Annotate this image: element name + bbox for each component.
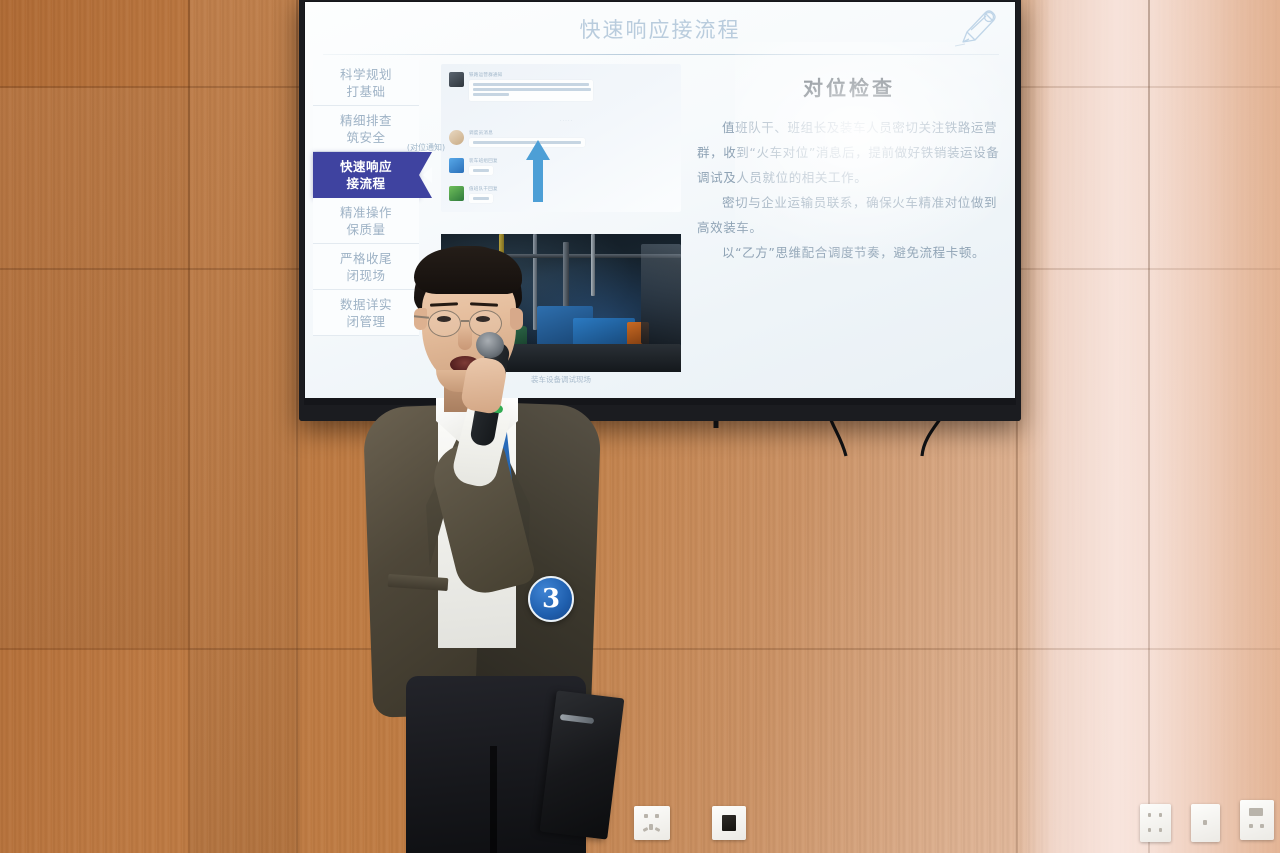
chat-avatar-3 [449, 158, 464, 173]
slide-nav-item-1-line2: 打基础 [346, 83, 385, 100]
chat-sender-2: 调度员消息 [469, 130, 585, 136]
slide-nav-item-3-line2: 接流程 [346, 175, 385, 192]
contestant-number-badge: 3 [528, 576, 574, 622]
slide-nav-item-3-line1: 快速响应 [340, 158, 392, 175]
slide-nav-item-4-line2: 保质量 [346, 221, 385, 238]
title-divider [323, 54, 999, 55]
slide-paragraph-3: 以“乙方”思维配合调度节奏，避免流程卡顿。 [697, 240, 1001, 265]
hair-front [414, 248, 522, 294]
chat-bubble-1 [469, 80, 593, 101]
slide-body-heading: 对位检查 [697, 72, 1001, 101]
chat-message-3: 装车班组回复 [449, 158, 498, 175]
chat-sender-1: 铁路运营群通知 [469, 72, 593, 78]
slide-paragraph-2: 密切与企业运输员联系，确保火车精准对位做到高效装车。 [697, 190, 1001, 240]
chat-sender-4: 值班队干回复 [469, 186, 498, 192]
wall-light-wash-edge [1150, 0, 1280, 853]
wall-seam-vertical-1 [188, 0, 190, 853]
trouser-leg-gap [490, 746, 497, 853]
presenter: 3 [352, 246, 652, 853]
wall-seam-vertical-4 [1148, 0, 1150, 853]
chat-bubble-3 [469, 166, 493, 175]
slide-nav-item-1-line1: 科学规划 [340, 66, 392, 83]
slide-nav-item-3-active[interactable]: 快速响应 接流程 [313, 152, 419, 198]
chat-system-line: · · · · · [521, 118, 611, 123]
slide-nav-item-2-line1: 精细排查 [340, 112, 392, 129]
nose [458, 326, 472, 350]
power-socket-left[interactable] [634, 806, 670, 840]
eyeglass-lens-left [428, 310, 461, 337]
wall-seam-vertical-2 [296, 0, 298, 853]
chat-avatar-4 [449, 186, 464, 201]
switch-right-2[interactable] [1191, 804, 1220, 842]
eyeglass-bridge [461, 320, 469, 322]
pencil-icon [955, 6, 1001, 50]
up-arrow-annotation-icon [525, 140, 551, 202]
slide-title: 快速响应接流程 [305, 14, 1015, 44]
slide-body: 对位检查 值班队干、班组长及装车人员密切关注铁路运营群，收到“火车对位”消息后，… [697, 72, 1001, 265]
slide-nav-item-4[interactable]: 精准操作 保质量 [313, 198, 419, 244]
presentation-scene: 快速响应接流程 科学规划 打基础 [0, 0, 1280, 853]
chat-bubble-4 [469, 194, 493, 203]
chat-screenshot: 铁路运营群通知 · · · · · 调度员消息 [441, 64, 681, 212]
power-socket-right-1[interactable] [1140, 804, 1171, 842]
chat-avatar-1 [449, 72, 464, 87]
chat-arrow-label: (对位通知) [351, 142, 501, 153]
wall-panel-shade-left [0, 88, 190, 648]
chat-message-4: 值班队干回复 [449, 186, 498, 203]
slide-nav-item-1[interactable]: 科学规划 打基础 [313, 60, 419, 106]
slide-nav-item-4-line1: 精准操作 [340, 204, 392, 221]
chat-sender-3: 装车班组回复 [469, 158, 498, 164]
data-port-center[interactable] [712, 806, 746, 840]
slide-paragraph-1: 值班队干、班组长及装车人员密切关注铁路运营群，收到“火车对位”消息后，提前做好铁… [697, 115, 1001, 190]
wall-panel-shade-mid [190, 0, 300, 853]
ear-right [510, 308, 523, 330]
power-socket-right-3[interactable] [1240, 800, 1274, 840]
chat-message-1: 铁路运营群通知 [449, 72, 593, 101]
ear-left [414, 308, 427, 330]
